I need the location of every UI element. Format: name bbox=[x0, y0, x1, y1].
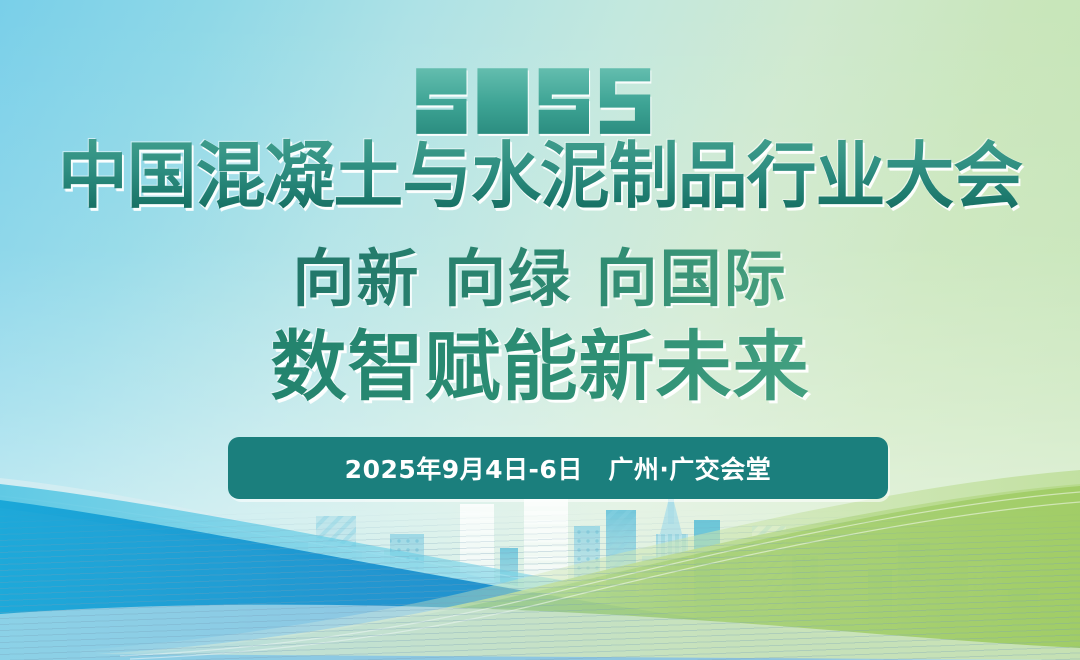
subtitle-line-2: 数智赋能新未来 bbox=[0, 326, 1080, 408]
page-title: 中国混凝土与水泥制品行业大会 bbox=[16, 138, 1064, 214]
date-venue-banner: 2025年9月4日-6日 广州·广交会堂 bbox=[228, 437, 888, 499]
conference-poster: 中国混凝土与水泥制品行业大会 向新 向绿 向国际 数智赋能新未来 2025年9月… bbox=[0, 0, 1080, 660]
date-venue-text: 2025年9月4日-6日 广州·广交会堂 bbox=[345, 450, 772, 486]
subtitle-line-1: 向新 向绿 向国际 bbox=[0, 246, 1080, 312]
year-2025 bbox=[0, 66, 1080, 136]
year-2025-glyphs bbox=[414, 66, 666, 136]
poster-content: 中国混凝土与水泥制品行业大会 向新 向绿 向国际 数智赋能新未来 2025年9月… bbox=[0, 0, 1080, 660]
